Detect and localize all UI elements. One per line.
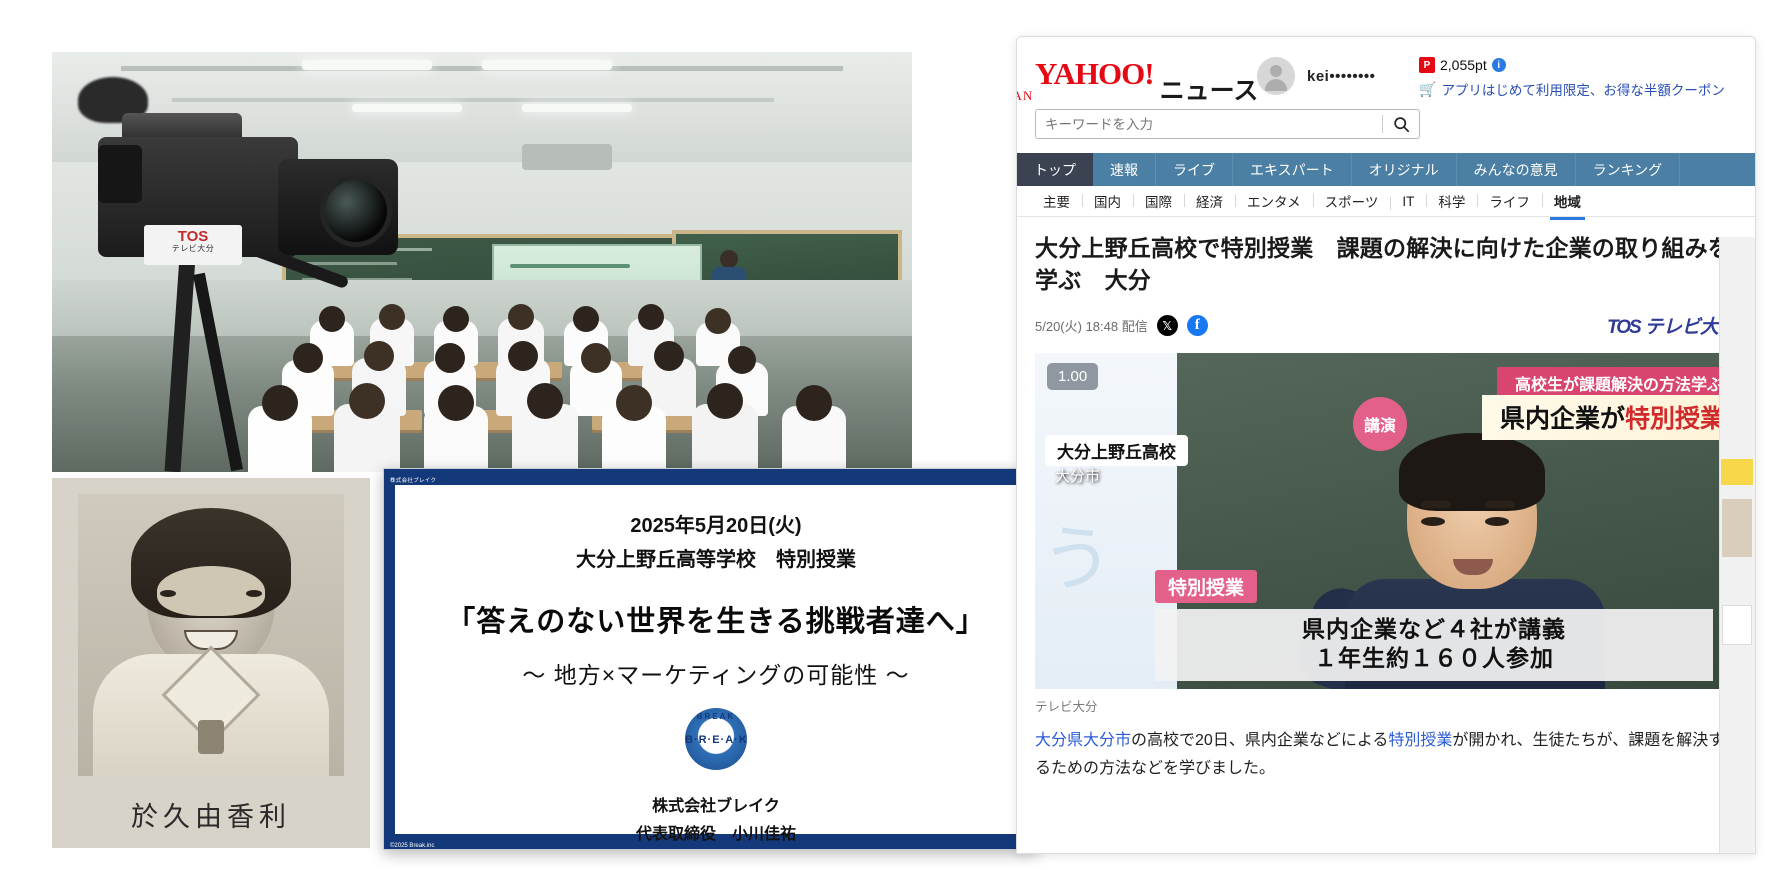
publisher-logo[interactable]: TOS テレビ大分 — [1607, 312, 1737, 339]
subtab-international[interactable]: 国際 — [1133, 191, 1184, 211]
article: 大分上野丘高校で特別授業 課題の解決に向けた企業の取り組みを学ぶ 大分 5/20… — [1017, 217, 1755, 339]
tos-logo-sub: テレビ大分 — [144, 245, 242, 253]
video-watermark: う — [1041, 500, 1113, 605]
promo-text: アプリはじめて利用限定、お得な半額クーポン — [1441, 79, 1725, 99]
tab-top[interactable]: トップ — [1017, 153, 1093, 186]
yahoo-logo[interactable]: YAHOO! JAPAN ニュース — [1035, 59, 1258, 104]
slide-left-bar — [384, 485, 395, 834]
uniform-tie — [198, 720, 224, 754]
yahoo-news-label: ニュース — [1160, 79, 1259, 104]
subtab-life[interactable]: ライフ — [1477, 191, 1542, 211]
facebook-share-icon[interactable]: f — [1187, 315, 1208, 336]
points-row[interactable]: P 2,055pt i — [1419, 57, 1506, 73]
article-meta: 5/20(火) 18:48 配信 𝕏 f TOS テレビ大分 — [1035, 312, 1737, 339]
slide-company: 株式会社ブレイク — [421, 792, 1011, 816]
side-rail-chip[interactable] — [1721, 459, 1753, 485]
ceiling-light — [302, 60, 432, 70]
slide-top-bar: 株式会社ブレイク — [384, 469, 1037, 485]
search-input[interactable] — [1036, 110, 1382, 138]
tripod-leg — [193, 273, 243, 472]
yahoo-header: YAHOO! JAPAN ニュース kei•••••••• P 2,055pt … — [1017, 37, 1755, 109]
video-lesson-tag: 特別授業 — [1155, 570, 1257, 603]
search-row — [1017, 109, 1755, 153]
side-rail-thumbnail[interactable] — [1722, 499, 1752, 557]
classroom-photo: TOS テレビ大分 — [52, 52, 912, 472]
video-caption-line1: 県内企業など４社が講義 — [1165, 615, 1703, 644]
cart-icon: 🛒 — [1419, 81, 1436, 98]
slide-header-note: 株式会社ブレイク — [384, 478, 436, 484]
video-school-tag: 大分上野丘高校 — [1045, 435, 1188, 466]
info-icon[interactable]: i — [1492, 58, 1506, 72]
break-logo: BREAK B·R·E·A·K — [685, 708, 747, 770]
tab-opinions[interactable]: みんなの意見 — [1457, 153, 1576, 186]
tos-logo-text: TOS — [178, 228, 209, 245]
video-subheadline-a: 県内企業が — [1500, 405, 1625, 433]
promo-link[interactable]: 🛒 アプリはじめて利用限定、お得な半額クーポン — [1419, 79, 1725, 99]
tab-original[interactable]: オリジナル — [1352, 153, 1457, 186]
video-subheadline-b: 特別授業 — [1625, 405, 1725, 433]
presentation-slide: 株式会社ブレイク ©2025 Break.inc 2025年5月20日(火) 大… — [383, 468, 1038, 850]
main-tabs: トップ 速報 ライブ エキスパート オリジナル みんなの意見 ランキング — [1017, 153, 1755, 186]
article-title: 大分上野丘高校で特別授業 課題の解決に向けた企業の取り組みを学ぶ 大分 — [1035, 233, 1737, 296]
x-share-icon[interactable]: 𝕏 — [1157, 315, 1178, 336]
point-badge-icon: P — [1419, 57, 1435, 73]
video-city-label: 大分市 — [1055, 465, 1100, 486]
video-credit: テレビ大分 — [1035, 696, 1737, 715]
avatar[interactable] — [1257, 57, 1295, 95]
tos-camera-label: TOS テレビ大分 — [144, 225, 242, 265]
tab-live[interactable]: ライブ — [1156, 153, 1233, 186]
portrait-caption: 於久由香利 — [52, 795, 370, 834]
slide-person: 代表取締役 小川佳祐 — [421, 820, 1011, 844]
sub-tabs: 主要 国内 国際 経済 エンタメ スポーツ IT 科学 ライフ 地域 — [1017, 186, 1755, 217]
points-value: 2,055pt — [1440, 57, 1487, 73]
slide-school: 大分上野丘高等学校 特別授業 — [421, 543, 1011, 572]
search-icon[interactable] — [1383, 116, 1419, 133]
side-rail-card[interactable] — [1722, 605, 1752, 645]
article-body: 大分県大分市の高校で20日、県内企業などによる特別授業が開かれ、生徒たちが、課題… — [1035, 727, 1737, 783]
slide-content: 2025年5月20日(火) 大分上野丘高等学校 特別授業 「答えのない世界を生き… — [395, 485, 1037, 834]
slide-subtitle: ～ 地方×マーケティングの可能性 ～ — [421, 656, 1011, 690]
portrait-eye — [160, 590, 176, 597]
article-date: 5/20(火) 18:48 配信 — [1035, 316, 1148, 335]
portrait-hair — [131, 508, 291, 618]
tab-ranking[interactable]: ランキング — [1576, 153, 1681, 186]
subtab-economy[interactable]: 経済 — [1184, 191, 1235, 211]
side-rail — [1719, 237, 1755, 853]
video-player[interactable]: う 1.00 大分上野丘高校 大分市 高校生が課題解決の方法学ぶ 講演 県内企業… — [1035, 353, 1737, 689]
portrait-frame — [78, 494, 344, 776]
yahoo-logo-main: YAHOO! — [1035, 59, 1154, 88]
search-box[interactable] — [1035, 109, 1420, 139]
subtab-it[interactable]: IT — [1390, 194, 1426, 209]
browser-window: YAHOO! JAPAN ニュース kei•••••••• P 2,055pt … — [1016, 36, 1756, 854]
break-logo-word: B·R·E·A·K — [685, 734, 747, 746]
video-caption: 県内企業など４社が講義 １年生約１６０人参加 — [1155, 609, 1713, 682]
subtab-entertainment[interactable]: エンタメ — [1235, 191, 1313, 211]
tv-camera: TOS テレビ大分 — [82, 107, 412, 467]
username[interactable]: kei•••••••• — [1307, 68, 1375, 85]
tab-expert[interactable]: エキスパート — [1233, 153, 1352, 186]
projector — [522, 144, 612, 170]
article-body-part1: の高校で20日、県内企業などによる — [1131, 732, 1388, 749]
subtab-domestic[interactable]: 国内 — [1082, 191, 1133, 211]
slide-title: 「答えのない世界を生きる挑戦者達へ」 — [421, 598, 1011, 640]
camera-lens — [278, 159, 398, 255]
subtab-sports[interactable]: スポーツ — [1313, 191, 1391, 211]
camera-body: TOS テレビ大分 — [98, 137, 298, 257]
slide-date: 2025年5月20日(火) — [421, 509, 1011, 538]
portrait-photo: 於久由香利 — [52, 478, 370, 848]
portrait-eye — [246, 590, 262, 597]
article-link-lesson[interactable]: 特別授業 — [1388, 732, 1452, 749]
article-link-city[interactable]: 大分県大分市 — [1035, 732, 1131, 749]
playback-speed[interactable]: 1.00 — [1047, 363, 1098, 390]
video-subheadline-strip: 県内企業が特別授業 — [1482, 395, 1737, 440]
ceiling-light — [482, 60, 612, 70]
break-logo-top: BREAK — [685, 712, 747, 721]
video-caption-line2: １年生約１６０人参加 — [1165, 644, 1703, 673]
publisher-logo-tos: TOS — [1607, 317, 1640, 338]
tab-sokuho[interactable]: 速報 — [1093, 153, 1156, 186]
subtab-science[interactable]: 科学 — [1426, 191, 1477, 211]
tripod-leg — [165, 257, 196, 472]
subtab-main[interactable]: 主要 — [1031, 191, 1082, 211]
subtab-region[interactable]: 地域 — [1542, 191, 1593, 211]
screenshot-root: TOS テレビ大分 於久由香利 株式会社ブレイク ©2025 Break.inc — [0, 0, 1786, 870]
ceiling-light — [522, 104, 632, 112]
